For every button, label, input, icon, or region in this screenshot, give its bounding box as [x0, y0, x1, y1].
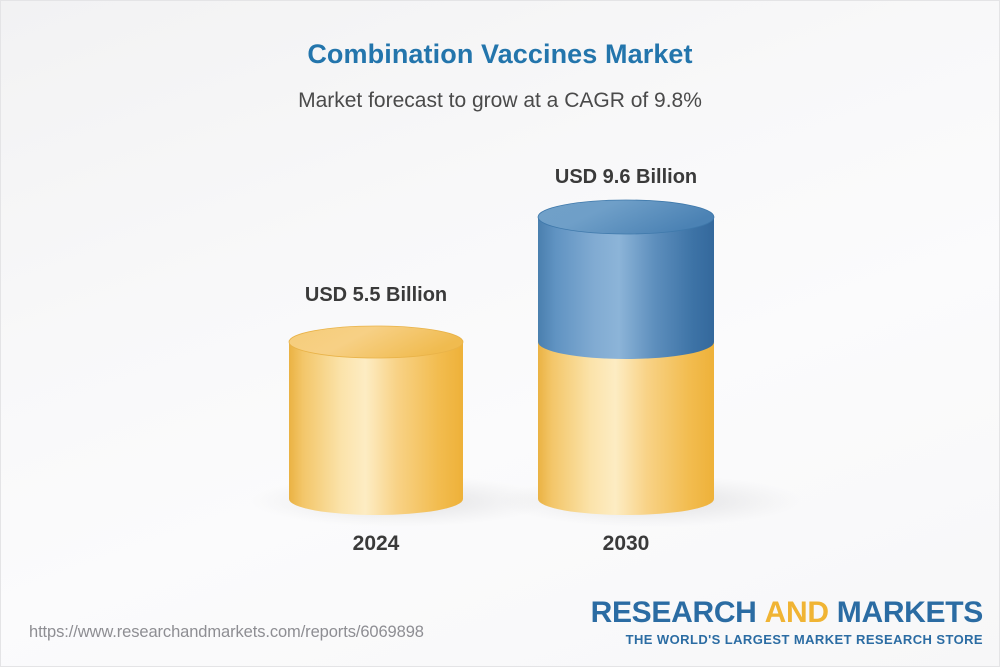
bar-2030 — [499, 200, 803, 527]
logo-wordmark: RESEARCH AND MARKETS — [591, 598, 983, 628]
bar-2030-segment-base — [538, 342, 714, 515]
bar-category-label-2030: 2030 — [536, 532, 716, 556]
source-url[interactable]: https://www.researchandmarkets.com/repor… — [29, 623, 424, 642]
logo-word-markets: MARKETS — [837, 596, 983, 629]
bar-2030-segment-growth — [538, 217, 714, 359]
bar-2024-top — [289, 326, 463, 358]
bar-2024-body — [289, 342, 463, 515]
bar-2030-top — [538, 200, 714, 234]
bar-category-label-2024: 2024 — [286, 532, 466, 556]
logo-word-research: RESEARCH — [591, 596, 757, 629]
bar-value-label-2030: USD 9.6 Billion — [536, 166, 716, 189]
research-and-markets-logo[interactable]: RESEARCH AND MARKETS THE WORLD'S LARGEST… — [591, 598, 983, 646]
logo-tagline: THE WORLD'S LARGEST MARKET RESEARCH STOR… — [591, 633, 983, 646]
logo-word-and: AND — [765, 596, 829, 629]
bar-chart — [1, 1, 1000, 667]
bar-value-label-2024: USD 5.5 Billion — [286, 284, 466, 307]
infographic-canvas: Combination Vaccines Market Market forec… — [0, 0, 1000, 667]
